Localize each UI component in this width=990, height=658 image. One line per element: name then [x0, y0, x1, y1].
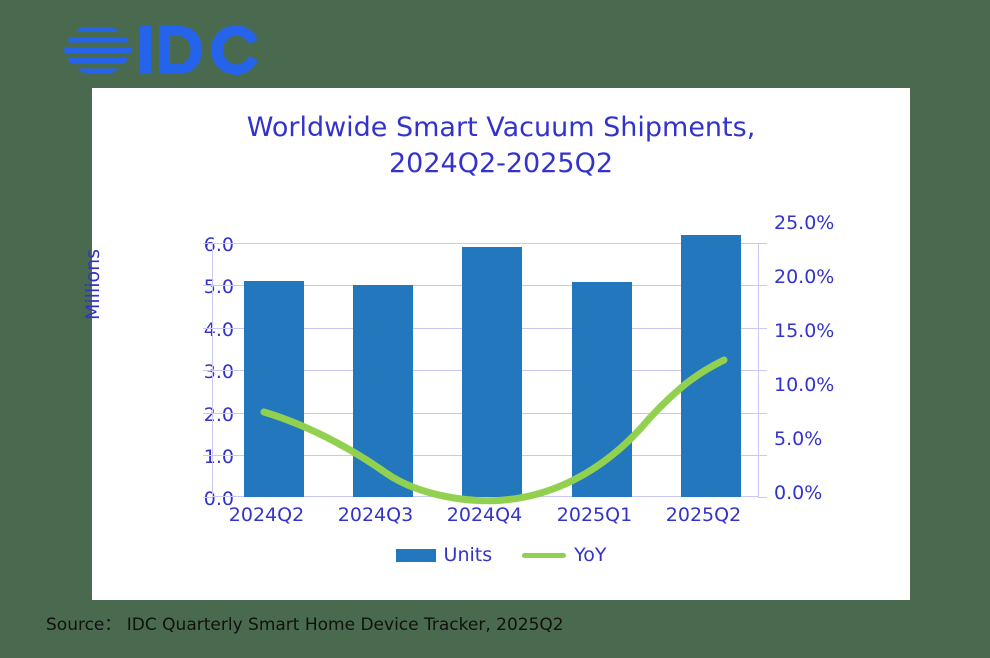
bar-2025Q2[interactable]	[681, 235, 741, 497]
y2-tick-mark-extra	[758, 455, 767, 456]
y-tick-mark-5	[203, 285, 212, 286]
legend-item-yoy[interactable]: YoY	[522, 546, 606, 565]
bar-2025Q1[interactable]	[572, 282, 632, 497]
y-tick-mark-2	[203, 413, 212, 414]
idc-globe-icon	[62, 18, 262, 80]
source-note: Source： IDC Quarterly Smart Home Device …	[46, 614, 564, 636]
bar-2024Q3[interactable]	[353, 285, 413, 497]
x-tick-label-2025Q1: 2025Q1	[540, 506, 649, 525]
plot-wrapper: Millions 6.0 5.0 4.0 3.0 2.0 1.0 0.0	[92, 88, 910, 600]
x-tick-label-2024Q3: 2024Q3	[321, 506, 430, 525]
bar-2024Q2[interactable]	[244, 281, 304, 497]
chart-legend: Units YoY	[92, 546, 910, 565]
chart-card: Worldwide Smart Vacuum Shipments, 2024Q2…	[92, 88, 910, 600]
legend-item-units[interactable]: Units	[396, 546, 493, 565]
legend-swatch-yoy-icon	[522, 553, 566, 558]
y2-tick-mark-25	[758, 243, 767, 244]
y2-tick-mark-15	[758, 328, 767, 329]
y2-tick-mark-20	[758, 285, 767, 286]
x-tick-label-2024Q2: 2024Q2	[212, 506, 321, 525]
legend-label-units: Units	[444, 546, 493, 565]
y-tick-mark-0	[203, 497, 212, 498]
y2-axis-line	[758, 243, 759, 497]
y2-tick-label-15: 15.0%	[774, 322, 866, 341]
legend-swatch-units-icon	[396, 549, 436, 562]
y2-tick-label-20: 20.0%	[774, 268, 866, 287]
x-tick-label-2025Q2: 2025Q2	[649, 506, 758, 525]
bar-2024Q4[interactable]	[462, 247, 522, 497]
screenshot-root: Worldwide Smart Vacuum Shipments, 2024Q2…	[0, 0, 990, 658]
y-tick-mark-6	[203, 243, 212, 244]
y2-tick-label-10: 10.0%	[774, 376, 866, 395]
y-axis-label: Millions	[82, 249, 104, 320]
gridline-6	[212, 243, 758, 244]
plot-area	[212, 243, 758, 497]
legend-label-yoy: YoY	[574, 546, 606, 565]
y2-tick-mark-0	[758, 497, 767, 498]
x-tick-label-2024Q4: 2024Q4	[430, 506, 539, 525]
y2-tick-mark-5	[758, 413, 767, 414]
y-tick-mark-3	[203, 370, 212, 371]
y-axis-line	[212, 243, 213, 497]
y-tick-mark-1	[203, 455, 212, 456]
y2-tick-label-25: 25.0%	[774, 214, 866, 233]
y2-tick-label-0: 0.0%	[774, 484, 866, 503]
idc-logo	[62, 18, 262, 80]
y-tick-mark-4	[203, 328, 212, 329]
y2-tick-label-5: 5.0%	[774, 430, 866, 449]
y2-tick-mark-10	[758, 370, 767, 371]
